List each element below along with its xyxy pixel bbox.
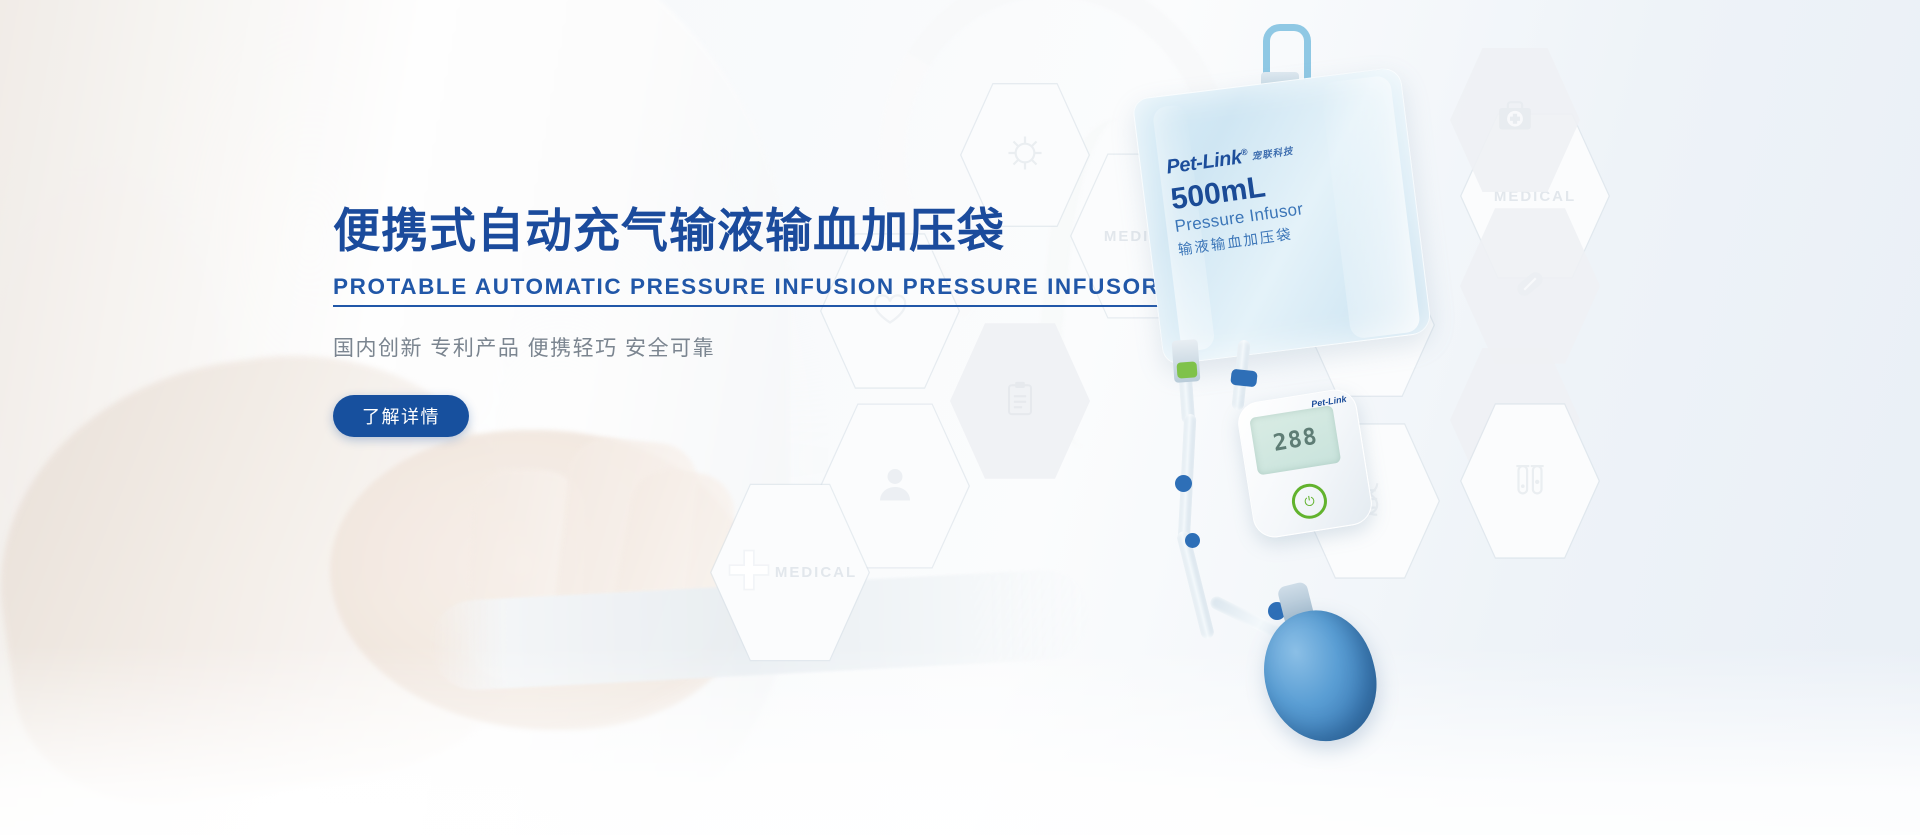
pressure-readout: 288 bbox=[1271, 424, 1319, 457]
virus-icon bbox=[1002, 130, 1048, 181]
cross-icon bbox=[723, 544, 775, 601]
banner-subtitle: PROTABLE AUTOMATIC PRESSURE INFUSION PRE… bbox=[333, 274, 1160, 307]
brand-chinese: 宠联科技 bbox=[1251, 146, 1294, 163]
page-title: 便携式自动充气输液输血加压袋 bbox=[333, 205, 1013, 258]
banner-stage: MEDICALMEDICALMEDICAL 便携式自动充气输液输血加压袋 PRO… bbox=[0, 0, 1920, 835]
hexagon-label: MEDICAL bbox=[775, 564, 857, 581]
banner-tagline: 国内创新 专利产品 便携轻巧 安全可靠 bbox=[333, 332, 1013, 362]
tube-connector bbox=[1175, 475, 1192, 492]
device-screen: 288 bbox=[1249, 405, 1341, 475]
valve-blue bbox=[1230, 369, 1258, 388]
learn-more-button[interactable]: 了解详情 bbox=[333, 395, 469, 437]
person-icon bbox=[871, 460, 919, 513]
bottom-fade bbox=[0, 645, 1920, 835]
digital-pressure-controller[interactable]: Pet-Link 288 ⏻ bbox=[1235, 386, 1375, 540]
valve-green bbox=[1176, 361, 1197, 378]
power-button-icon[interactable]: ⏻ bbox=[1289, 481, 1329, 521]
product-image: Pet-Link®宠联科技 500mL Pressure Infusor 输液输… bbox=[1085, 10, 1565, 830]
registered-mark: ® bbox=[1240, 147, 1248, 158]
banner-copy: 便携式自动充气输液输血加压袋 PROTABLE AUTOMATIC PRESSU… bbox=[333, 205, 1013, 437]
pressure-infusion-bag: Pet-Link®宠联科技 500mL Pressure Infusor 输液输… bbox=[1132, 67, 1433, 366]
tube-connector bbox=[1185, 533, 1200, 548]
